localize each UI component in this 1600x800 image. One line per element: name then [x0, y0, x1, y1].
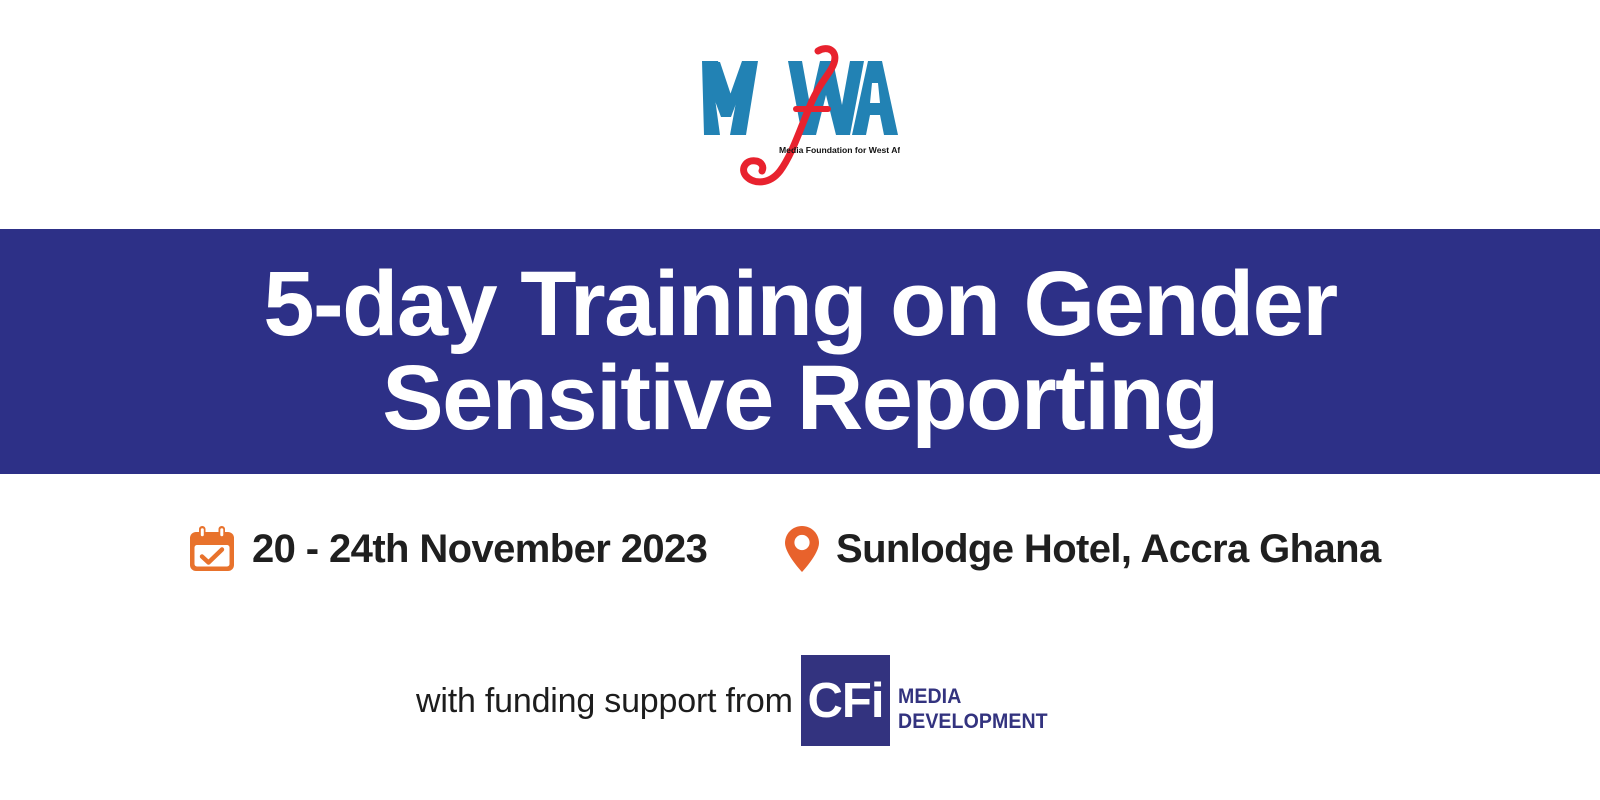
mfwa-logo: Media Foundation for West Africa	[0, 30, 1600, 205]
page-title-line-2: Sensitive Reporting	[382, 352, 1217, 446]
event-details-row: 20 - 24th November 2023 Sunlodge Hotel, …	[0, 505, 1600, 605]
mfwa-logo-tagline: Media Foundation for West Africa	[779, 145, 900, 155]
event-date-text: 20 - 24th November 2023	[252, 527, 707, 572]
title-band: 5-day Training on Gender Sensitive Repor…	[0, 229, 1600, 474]
cfi-logo-subtitle: MEDIA DEVELOPMENT	[898, 685, 1048, 733]
cfi-logo-box: CFi	[801, 655, 890, 746]
cfi-logo: CFi MEDIA DEVELOPMENT	[801, 655, 1059, 746]
map-pin-icon	[782, 523, 822, 575]
calendar-check-icon	[186, 523, 238, 575]
cfi-logo-subtitle-line-2: DEVELOPMENT	[898, 710, 1048, 734]
funder-row: with funding support from CFi MEDIA DEVE…	[0, 655, 1600, 750]
flyer-canvas: Media Foundation for West Africa 5-day T…	[0, 0, 1600, 800]
cfi-logo-mark: CFi	[808, 677, 884, 726]
event-location-text: Sunlodge Hotel, Accra Ghana	[836, 527, 1381, 572]
funder-prefix-text: with funding support from	[416, 682, 793, 721]
event-location: Sunlodge Hotel, Accra Ghana	[782, 523, 1381, 575]
cfi-logo-subtitle-line-1: MEDIA	[898, 685, 1048, 709]
event-date: 20 - 24th November 2023	[186, 523, 707, 575]
page-title-line-1: 5-day Training on Gender	[263, 258, 1336, 352]
mfwa-logo-svg: Media Foundation for West Africa	[700, 43, 900, 193]
